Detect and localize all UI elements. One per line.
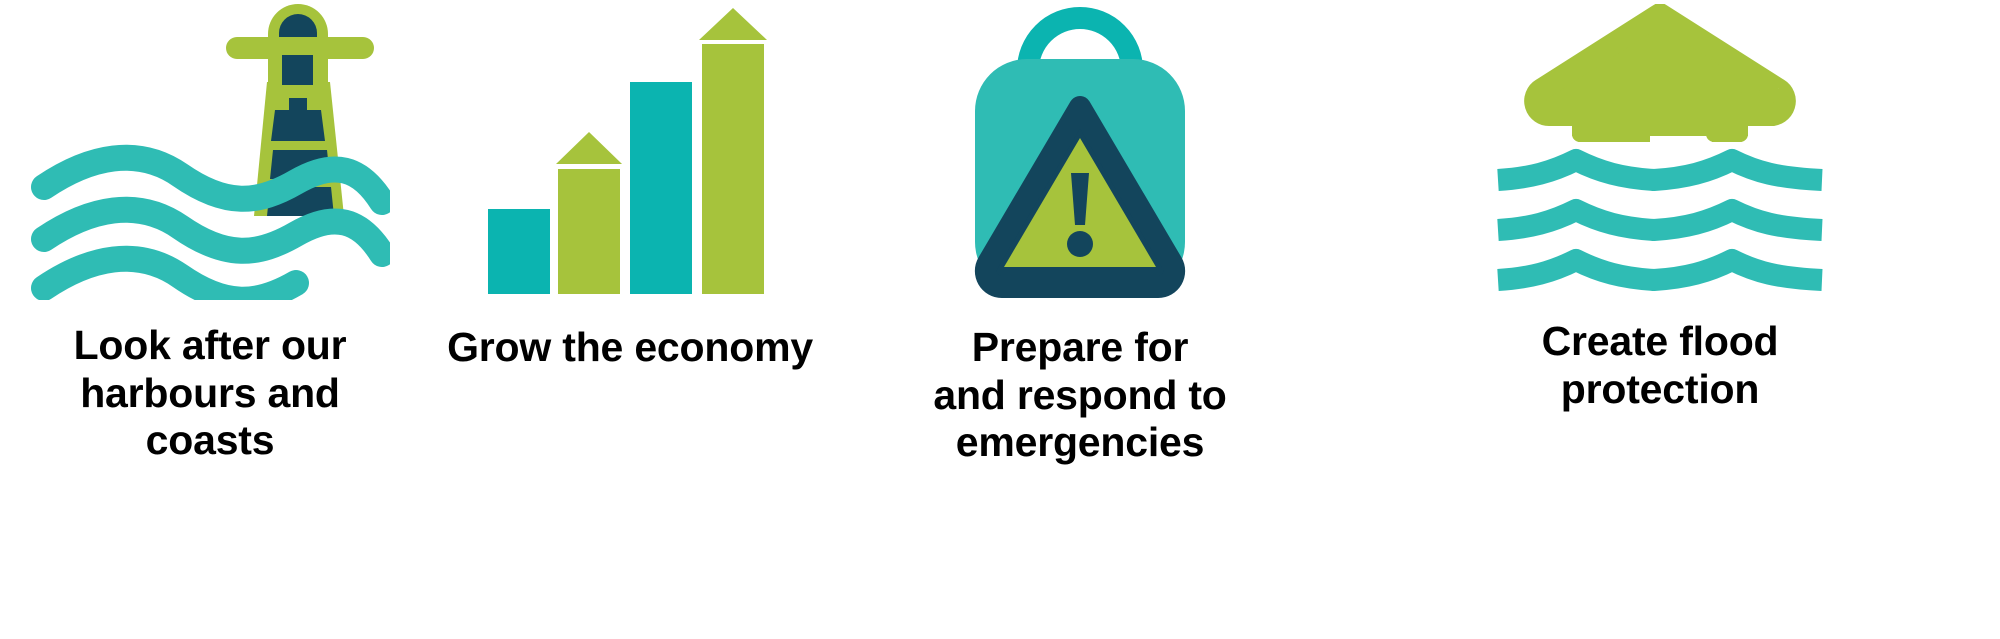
house-right-wall — [1706, 92, 1748, 142]
growth-bar-chart-icon — [420, 0, 840, 300]
priorities-infographic: Look after our harbours and coasts Grow … — [0, 0, 2000, 639]
panel-grow-the-economy: Grow the economy — [420, 0, 840, 639]
wave-lines-group — [44, 158, 382, 300]
caption-grow-the-economy: Grow the economy — [430, 324, 830, 372]
panel-create-flood-protection: Create flood protection — [1320, 0, 2000, 639]
lighthouse-and-waves-icon — [0, 0, 420, 300]
bar-2 — [558, 169, 620, 294]
emergency-kit-warning-icon — [840, 0, 1320, 300]
panel-harbours-and-coasts: Look after our harbours and coasts — [0, 0, 420, 639]
bar-3 — [630, 82, 692, 294]
bar-2-arrow — [556, 132, 622, 164]
bar-4-arrow — [699, 8, 767, 40]
exclamation-dot — [1067, 231, 1093, 257]
panel-prepare-for-emergencies: Prepare for and respond to emergencies — [840, 0, 1320, 639]
house-left-wall — [1572, 92, 1614, 142]
caption-prepare-for-emergencies: Prepare for and respond to emergencies — [880, 324, 1280, 467]
bar-4 — [702, 44, 764, 294]
caption-harbours-and-coasts: Look after our harbours and coasts — [30, 322, 390, 465]
caption-create-flood-protection: Create flood protection — [1450, 318, 1870, 413]
bar-1 — [488, 209, 550, 294]
house-above-flood-waves-icon — [1320, 0, 2000, 300]
flood-wave-lines-group — [1498, 160, 1822, 280]
